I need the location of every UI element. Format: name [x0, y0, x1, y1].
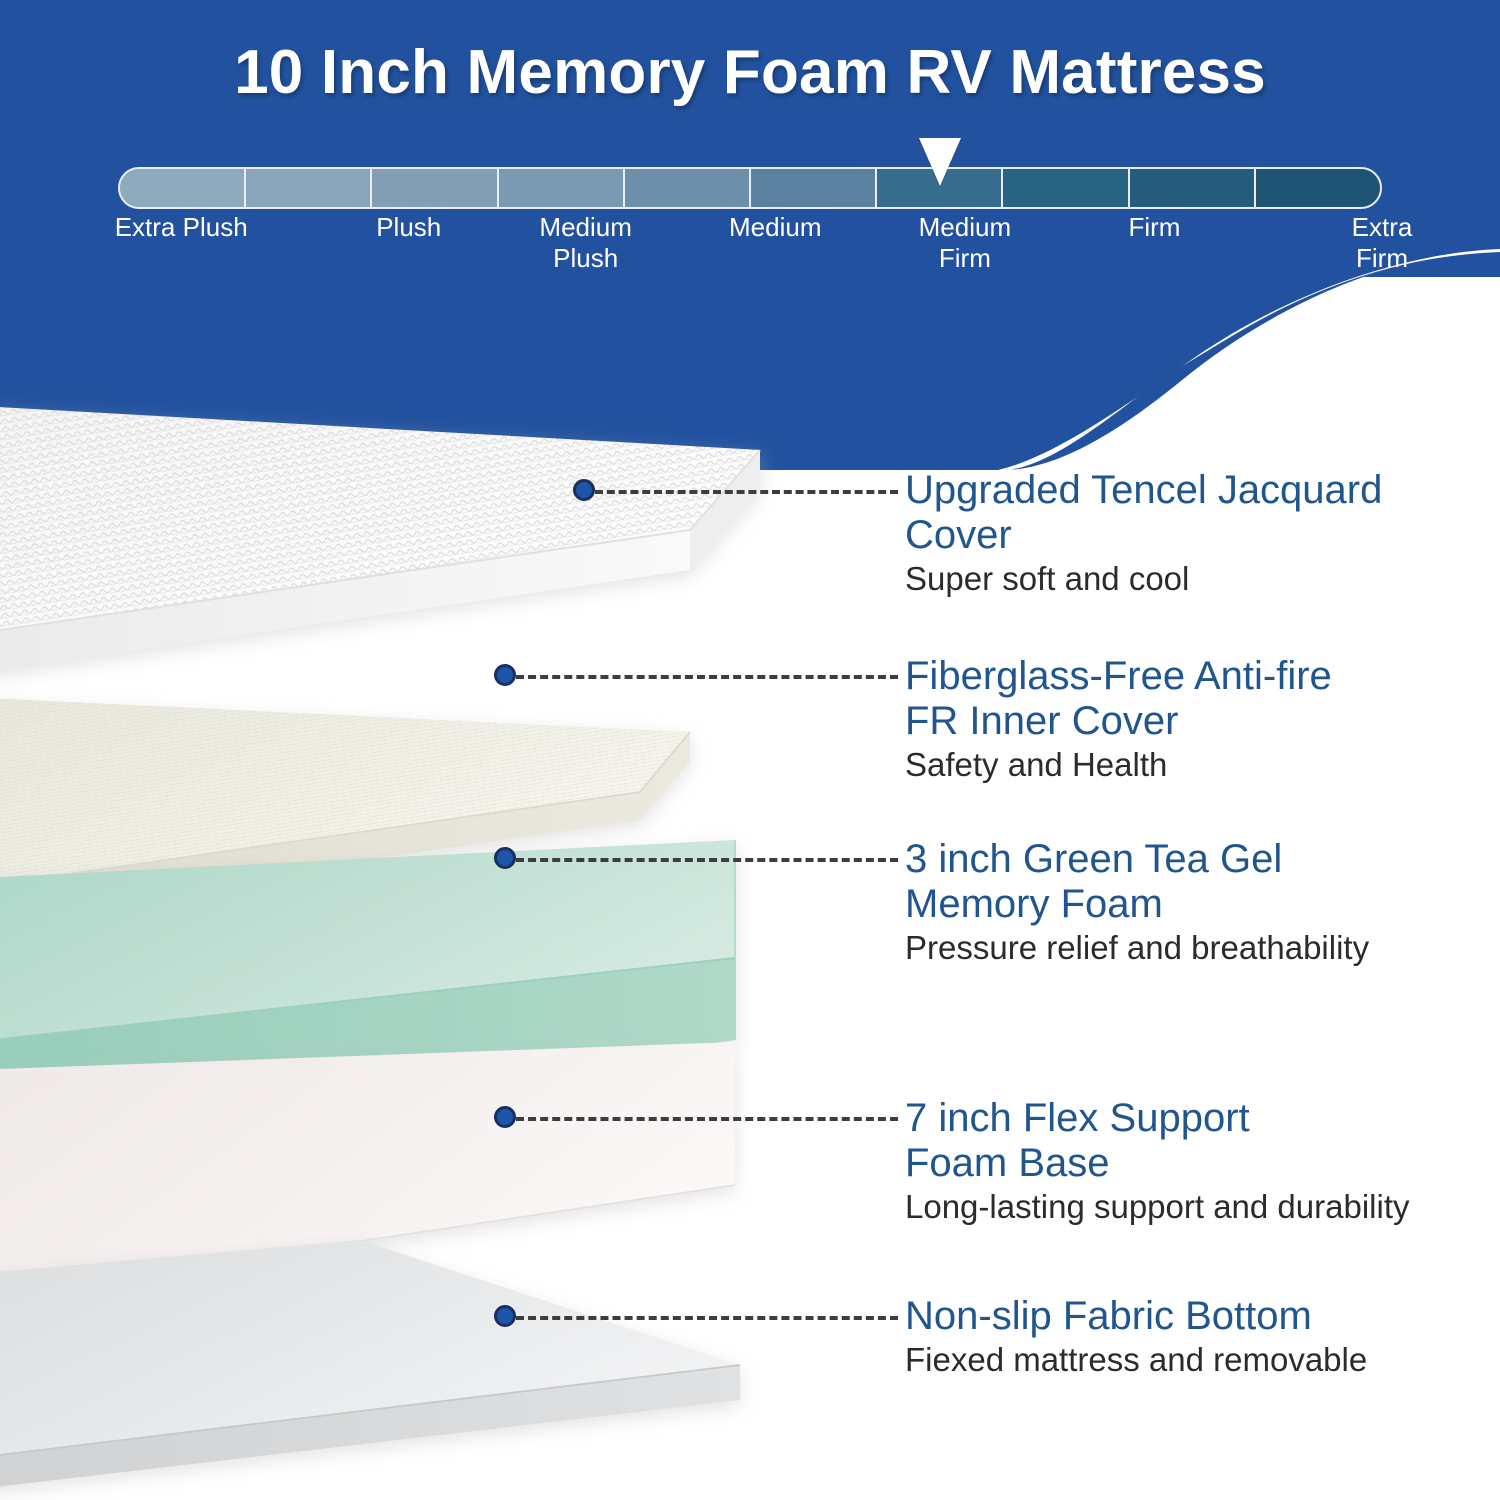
firmness-segment-3[interactable]: [372, 169, 498, 207]
feature-subtitle-4: Long-lasting support and durability: [905, 1188, 1410, 1226]
firmness-segment-10[interactable]: [1256, 169, 1380, 207]
feature-title-5: Non-slip Fabric Bottom: [905, 1294, 1367, 1339]
page-title: 10 Inch Memory Foam RV Mattress: [0, 42, 1500, 104]
callout-dot-2: [494, 664, 516, 686]
firmness-scale-labels: Extra PlushPlushMedium PlushMediumMedium…: [118, 212, 1382, 282]
firmness-segment-8[interactable]: [1003, 169, 1129, 207]
feature-subtitle-2: Safety and Health: [905, 746, 1332, 784]
callout-dot-3: [494, 847, 516, 869]
callout-leader-line-5: [516, 1316, 898, 1324]
callout-leader-line-4: [516, 1117, 898, 1125]
firmness-label-4: Medium: [729, 212, 821, 243]
firmness-label-2: Plush: [376, 212, 441, 243]
callout-leader-line-1: [595, 490, 898, 498]
firmness-segment-7[interactable]: [877, 169, 1003, 207]
feature-subtitle-3: Pressure relief and breathability: [905, 929, 1369, 967]
non-slip-fabric-bottom-layer: [0, 1240, 740, 1500]
feature-callout-4: 7 inch Flex Support Foam BaseLong-lastin…: [905, 1096, 1410, 1226]
firmness-label-3: Medium Plush: [539, 212, 631, 273]
feature-callout-3: 3 inch Green Tea Gel Memory FoamPressure…: [905, 837, 1369, 967]
firmness-marker-arrow-icon: [919, 138, 961, 186]
firmness-scale-track[interactable]: [118, 167, 1382, 209]
feature-callout-2: Fiberglass-Free Anti-fire FR Inner Cover…: [905, 654, 1332, 784]
callout-leader-line-3: [516, 858, 898, 866]
firmness-scale-bar[interactable]: [118, 167, 1382, 209]
feature-title-4: 7 inch Flex Support Foam Base: [905, 1096, 1410, 1186]
firmness-segment-5[interactable]: [625, 169, 751, 207]
firmness-segment-2[interactable]: [246, 169, 372, 207]
feature-callout-1: Upgraded Tencel Jacquard CoverSuper soft…: [905, 468, 1382, 598]
firmness-segment-9[interactable]: [1130, 169, 1256, 207]
feature-title-3: 3 inch Green Tea Gel Memory Foam: [905, 837, 1369, 927]
feature-callout-5: Non-slip Fabric BottomFiexed mattress an…: [905, 1294, 1367, 1379]
callout-leader-line-2: [516, 675, 898, 683]
feature-title-1: Upgraded Tencel Jacquard Cover: [905, 468, 1382, 558]
firmness-label-5: Medium Firm: [919, 212, 1011, 273]
callout-dot-5: [494, 1305, 516, 1327]
firmness-segment-6[interactable]: [751, 169, 877, 207]
firmness-label-6: Firm: [1128, 212, 1180, 243]
firmness-label-7: Extra Firm: [1352, 212, 1413, 273]
callout-dot-1: [573, 479, 595, 501]
callout-dot-4: [494, 1106, 516, 1128]
product-infographic: 10 Inch Memory Foam RV Mattress Extra Pl…: [0, 0, 1500, 1500]
firmness-segment-1[interactable]: [120, 169, 246, 207]
feature-subtitle-5: Fiexed mattress and removable: [905, 1341, 1367, 1379]
firmness-segment-4[interactable]: [499, 169, 625, 207]
firmness-label-1: Extra Plush: [115, 212, 248, 243]
feature-title-2: Fiberglass-Free Anti-fire FR Inner Cover: [905, 654, 1332, 744]
feature-subtitle-1: Super soft and cool: [905, 560, 1382, 598]
